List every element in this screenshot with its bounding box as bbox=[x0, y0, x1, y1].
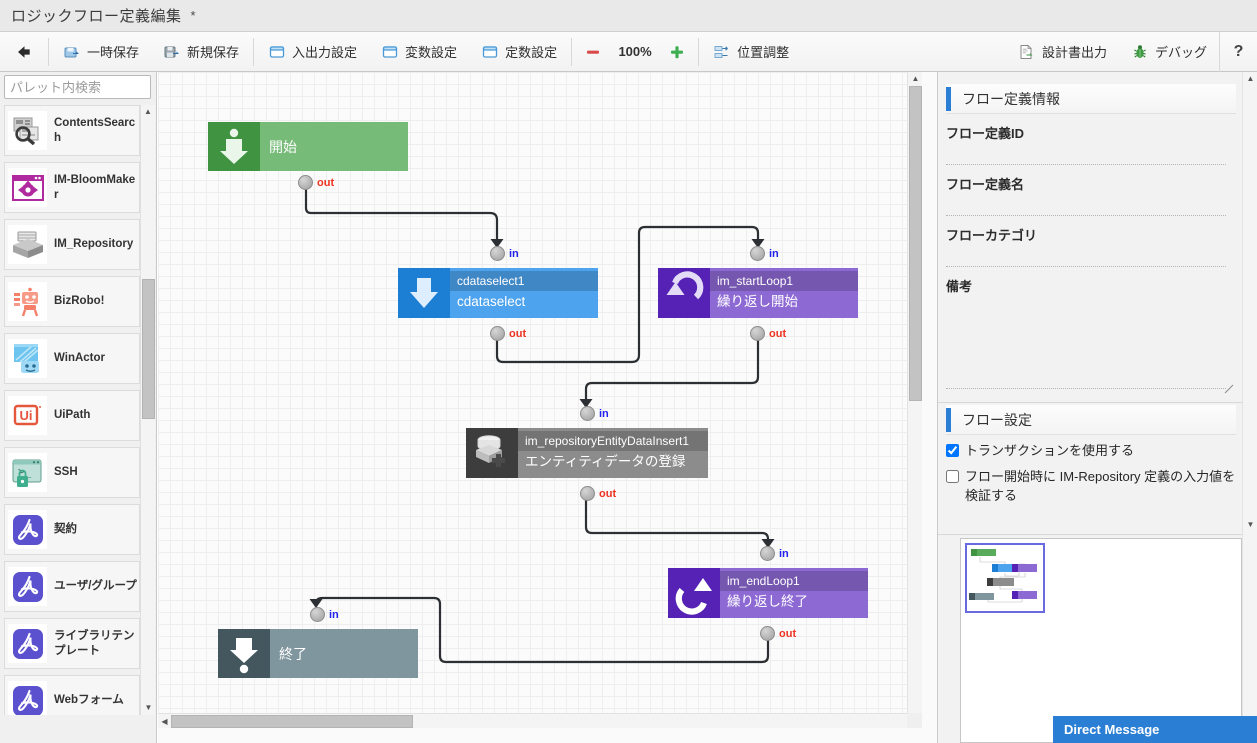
validate-repository-checkbox[interactable] bbox=[946, 470, 959, 483]
palette-item[interactable]: Webフォーム bbox=[4, 675, 140, 715]
flow-remarks-textarea[interactable] bbox=[946, 297, 1226, 389]
im-repository-icon bbox=[8, 225, 47, 264]
canvas-grid-background[interactable]: 開始out cdataselect1cdataselectinout im_st… bbox=[158, 72, 922, 728]
flow-node-body: im_startLoop1繰り返し開始 bbox=[710, 268, 858, 318]
flow-id-label: フロー定義ID bbox=[946, 123, 1236, 142]
flow-node-port-out[interactable] bbox=[298, 175, 313, 190]
debug-label: デバッグ bbox=[1155, 42, 1207, 61]
flow-node-port-in[interactable] bbox=[580, 406, 595, 421]
uipath-icon: Ui bbox=[8, 396, 47, 435]
palette-scrollbar[interactable]: ▲ ▼ bbox=[140, 105, 155, 715]
palette-item[interactable]: WinActor bbox=[4, 333, 140, 384]
flow-name-label: フロー定義名 bbox=[946, 174, 1236, 193]
flow-node-port-out[interactable] bbox=[490, 326, 505, 341]
palette-item-label: IM-BloomMaker bbox=[54, 173, 139, 202]
new-save-button[interactable]: 新規保存 bbox=[153, 37, 249, 67]
flow-node-port-in[interactable] bbox=[490, 246, 505, 261]
canvas-scroll-left-button[interactable]: ◀ bbox=[158, 714, 171, 729]
pdf-icon bbox=[8, 567, 47, 606]
back-button[interactable] bbox=[2, 37, 44, 67]
minus-icon bbox=[584, 43, 602, 61]
chevron-up-icon: ▲ bbox=[144, 108, 152, 116]
flow-canvas[interactable]: 開始out cdataselect1cdataselectinout im_st… bbox=[158, 72, 937, 743]
flow-name-input[interactable] bbox=[946, 195, 1226, 216]
flow-settings-header: フロー設定 bbox=[946, 405, 1236, 435]
pdf-icon bbox=[8, 510, 47, 549]
constant-settings-label: 定数設定 bbox=[505, 42, 557, 61]
panel-divider bbox=[938, 402, 1257, 403]
flow-node-title: 終了 bbox=[270, 629, 418, 678]
toolbar-divider bbox=[253, 38, 254, 66]
back-arrow-icon bbox=[14, 43, 32, 61]
palette-item-label: ユーザ/グループ bbox=[54, 579, 139, 593]
flow-node-title: 繰り返し終了 bbox=[720, 591, 868, 615]
flow-node-port-label: in bbox=[779, 548, 789, 560]
flow-node-body: cdataselect1cdataselect bbox=[450, 268, 598, 318]
chevron-left-icon: ◀ bbox=[161, 718, 167, 726]
flow-info-section: フロー定義情報 フロー定義ID フロー定義名 フローカテゴリ 備考 bbox=[946, 84, 1236, 394]
palette-item[interactable]: >_ SSH bbox=[4, 447, 140, 498]
palette-search-input[interactable] bbox=[4, 75, 151, 99]
loop-end-icon bbox=[668, 568, 720, 618]
io-settings-button[interactable]: 入出力設定 bbox=[258, 37, 367, 67]
palette-scroll-down-button[interactable]: ▼ bbox=[141, 701, 156, 715]
canvas-vertical-scrollbar[interactable]: ▲ ▼ bbox=[907, 72, 922, 728]
winactor-icon bbox=[8, 339, 47, 378]
direct-message-label: Direct Message bbox=[1053, 722, 1159, 737]
flow-node-port-in[interactable] bbox=[760, 546, 775, 561]
palette-item[interactable]: 契約 bbox=[4, 504, 140, 555]
toolbar-divider bbox=[571, 38, 572, 66]
toolbar-divider bbox=[48, 38, 49, 66]
ssh-icon: >_ bbox=[8, 453, 47, 492]
save-new-icon bbox=[163, 43, 181, 61]
flow-node-title: エンティティデータの登録 bbox=[518, 451, 708, 475]
palette-item[interactable]: IM-BloomMaker bbox=[4, 162, 140, 213]
save-temp-icon bbox=[63, 43, 81, 61]
panel-divider bbox=[938, 534, 1257, 535]
design-document-output-button[interactable]: 設計書出力 bbox=[1008, 37, 1117, 67]
use-transaction-label: トランザクションを使用する bbox=[965, 442, 1134, 461]
zoom-in-button[interactable] bbox=[660, 37, 694, 67]
flow-node-port-label: in bbox=[509, 248, 519, 260]
io-settings-label: 入出力設定 bbox=[292, 42, 357, 61]
page-title: ロジックフロー定義編集 bbox=[0, 5, 182, 26]
start-arrow-down-icon bbox=[208, 122, 260, 171]
flow-node-title: cdataselect bbox=[450, 291, 598, 315]
help-button[interactable]: ? bbox=[1219, 32, 1257, 72]
document-export-icon bbox=[1018, 43, 1036, 61]
flow-id-field: フロー定義ID bbox=[946, 123, 1236, 165]
validate-repository-checkbox-row[interactable]: フロー開始時に IM-Repository 定義の入力値を検証する bbox=[946, 468, 1236, 506]
canvas-vertical-scroll-thumb[interactable] bbox=[909, 86, 922, 401]
flow-node-port-label: in bbox=[769, 248, 779, 260]
temp-save-button[interactable]: 一時保存 bbox=[53, 37, 149, 67]
palette-item-label: Webフォーム bbox=[54, 693, 126, 707]
flow-node-port-out[interactable] bbox=[760, 626, 775, 641]
properties-panel-scrollbar[interactable]: ▲ ▼ bbox=[1242, 72, 1257, 743]
flow-node-entityinsert[interactable]: im_repositoryEntityDataInsert1エンティティデータの… bbox=[466, 428, 708, 478]
chevron-down-icon: ▼ bbox=[1247, 521, 1255, 529]
flow-node-port-label: out bbox=[509, 328, 526, 340]
palette-item[interactable]: ContentsSearch bbox=[4, 105, 140, 156]
flow-node-id: im_repositoryEntityDataInsert1 bbox=[518, 431, 708, 450]
flow-name-field: フロー定義名 bbox=[946, 174, 1236, 216]
flow-node-body: 開始 bbox=[260, 122, 408, 171]
zoom-out-button[interactable] bbox=[576, 37, 610, 67]
align-layout-button[interactable]: 位置調整 bbox=[703, 37, 799, 67]
window-icon bbox=[481, 43, 499, 61]
flow-node-port-label: out bbox=[769, 328, 786, 340]
plus-icon bbox=[668, 43, 686, 61]
resize-handle-icon[interactable] bbox=[1224, 381, 1234, 391]
connector-start-to-cdataselect bbox=[306, 184, 497, 240]
bizrobo-icon bbox=[8, 282, 47, 321]
flow-node-body: 終了 bbox=[270, 629, 418, 678]
bug-icon bbox=[1131, 43, 1149, 61]
palette-item[interactable]: ライブラリテンプレート bbox=[4, 618, 140, 669]
flow-settings-section: フロー設定 トランザクションを使用する フロー開始時に IM-Repositor… bbox=[946, 405, 1236, 506]
svg-text:Ui: Ui bbox=[19, 408, 32, 423]
design-document-output-label: 設計書出力 bbox=[1042, 42, 1107, 61]
palette-scroll-thumb[interactable] bbox=[142, 279, 155, 419]
flow-node-endloop[interactable]: im_endLoop1繰り返し終了 bbox=[668, 568, 868, 618]
panel-scroll-up-button[interactable]: ▲ bbox=[1243, 72, 1257, 86]
flow-remarks-field: 備考 bbox=[946, 276, 1236, 394]
flow-node-port-label: in bbox=[329, 609, 339, 621]
palette-item-label: BizRobo! bbox=[54, 294, 106, 308]
flow-node-id: im_endLoop1 bbox=[720, 571, 868, 590]
flow-node-id: cdataselect1 bbox=[450, 271, 598, 290]
palette-item-list[interactable]: ContentsSearch IM-BloomMaker IM_Reposito… bbox=[4, 105, 140, 715]
window-icon bbox=[381, 43, 399, 61]
contents-search-icon bbox=[8, 111, 47, 150]
flow-node-port-label: out bbox=[779, 628, 796, 640]
chevron-up-icon: ▲ bbox=[1247, 75, 1255, 83]
chevron-down-icon: ▼ bbox=[145, 704, 153, 712]
flow-remarks-label: 備考 bbox=[946, 276, 1236, 295]
flow-category-input[interactable] bbox=[946, 246, 1226, 267]
scrollbar-corner bbox=[907, 713, 922, 728]
canvas-horizontal-scroll-thumb[interactable] bbox=[171, 715, 413, 728]
palette-item-label: WinActor bbox=[54, 351, 107, 365]
title-bar: ロジックフロー定義編集 * bbox=[0, 0, 1257, 32]
panel-scroll-down-button[interactable]: ▼ bbox=[1243, 518, 1257, 532]
flow-node-startloop[interactable]: im_startLoop1繰り返し開始 bbox=[658, 268, 858, 318]
flow-node-title: 繰り返し開始 bbox=[710, 291, 858, 315]
flow-node-port-in[interactable] bbox=[310, 607, 325, 622]
flow-id-input[interactable] bbox=[946, 144, 1226, 165]
flow-info-header: フロー定義情報 bbox=[946, 84, 1236, 114]
unsaved-changes-marker: * bbox=[182, 8, 196, 23]
palette-item-label: ライブラリテンプレート bbox=[54, 629, 139, 658]
toolbar: 一時保存 新規保存 入出力設定 bbox=[0, 32, 1257, 72]
pdf-icon bbox=[8, 624, 47, 663]
palette-item-label: UiPath bbox=[54, 408, 92, 422]
arrow-down-icon bbox=[398, 268, 450, 318]
flow-node-cdataselect[interactable]: cdataselect1cdataselect bbox=[398, 268, 598, 318]
flow-settings-header-label: フロー設定 bbox=[951, 410, 1032, 430]
palette-item-label: 契約 bbox=[54, 522, 79, 536]
toolbar-divider bbox=[698, 38, 699, 66]
flow-node-port-out[interactable] bbox=[580, 486, 595, 501]
palette-item[interactable]: ユーザ/グループ bbox=[4, 561, 140, 612]
use-transaction-checkbox[interactable] bbox=[946, 444, 959, 457]
flow-node-end[interactable]: 終了 bbox=[218, 629, 418, 678]
loop-start-icon bbox=[658, 268, 710, 318]
flow-node-title: 開始 bbox=[260, 122, 408, 171]
palette-scroll-up-button[interactable]: ▲ bbox=[141, 105, 155, 119]
constant-settings-button[interactable]: 定数設定 bbox=[471, 37, 567, 67]
direct-message-bar[interactable]: Direct Message bbox=[1053, 716, 1257, 743]
flow-info-header-label: フロー定義情報 bbox=[951, 89, 1060, 109]
chevron-up-icon: ▲ bbox=[912, 75, 920, 83]
palette-item-label: SSH bbox=[54, 465, 80, 479]
validate-repository-label: フロー開始時に IM-Repository 定義の入力値を検証する bbox=[965, 468, 1236, 506]
flow-node-id: im_startLoop1 bbox=[710, 271, 858, 290]
flow-node-port-label: out bbox=[317, 177, 334, 189]
flow-node-start[interactable]: 開始 bbox=[208, 122, 408, 171]
im-bloommaker-icon bbox=[8, 168, 47, 207]
flow-category-label: フローカテゴリ bbox=[946, 225, 1236, 244]
flow-category-field: フローカテゴリ bbox=[946, 225, 1236, 267]
flow-node-port-label: out bbox=[599, 488, 616, 500]
palette-item[interactable]: IM_Repository bbox=[4, 219, 140, 270]
flow-node-body: im_endLoop1繰り返し終了 bbox=[720, 568, 868, 618]
variable-settings-button[interactable]: 変数設定 bbox=[371, 37, 467, 67]
zoom-level: 100% bbox=[612, 44, 658, 59]
minimap-viewport-rect[interactable] bbox=[965, 543, 1045, 613]
flow-node-port-label: in bbox=[599, 408, 609, 420]
palette-panel: ContentsSearch IM-BloomMaker IM_Reposito… bbox=[0, 72, 157, 743]
minimap-thumbnail bbox=[967, 545, 1043, 611]
connector-startloop-to-entityinsert bbox=[586, 336, 758, 400]
flow-node-port-out[interactable] bbox=[750, 326, 765, 341]
canvas-horizontal-scrollbar[interactable]: ◀ ▶ bbox=[158, 713, 922, 728]
flow-node-port-in[interactable] bbox=[750, 246, 765, 261]
temp-save-label: 一時保存 bbox=[87, 42, 139, 61]
align-icon bbox=[713, 43, 731, 61]
palette-item-label: ContentsSearch bbox=[54, 116, 139, 145]
window-icon bbox=[268, 43, 286, 61]
palette-item-label: IM_Repository bbox=[54, 237, 135, 251]
db-insert-icon bbox=[466, 428, 518, 478]
end-arrow-down-icon bbox=[218, 629, 270, 678]
palette-item[interactable]: BizRobo! bbox=[4, 276, 140, 327]
canvas-scroll-up-button[interactable]: ▲ bbox=[908, 72, 923, 86]
pdf-icon bbox=[8, 681, 47, 715]
flow-minimap[interactable] bbox=[960, 538, 1242, 743]
debug-button[interactable]: デバッグ bbox=[1121, 37, 1217, 67]
flow-node-body: im_repositoryEntityDataInsert1エンティティデータの… bbox=[518, 428, 708, 478]
palette-item[interactable]: Ui UiPath bbox=[4, 390, 140, 441]
connector-entityinsert-to-endloop bbox=[586, 496, 768, 540]
variable-settings-label: 変数設定 bbox=[405, 42, 457, 61]
new-save-label: 新規保存 bbox=[187, 42, 239, 61]
use-transaction-checkbox-row[interactable]: トランザクションを使用する bbox=[946, 442, 1236, 461]
align-layout-label: 位置調整 bbox=[737, 42, 789, 61]
